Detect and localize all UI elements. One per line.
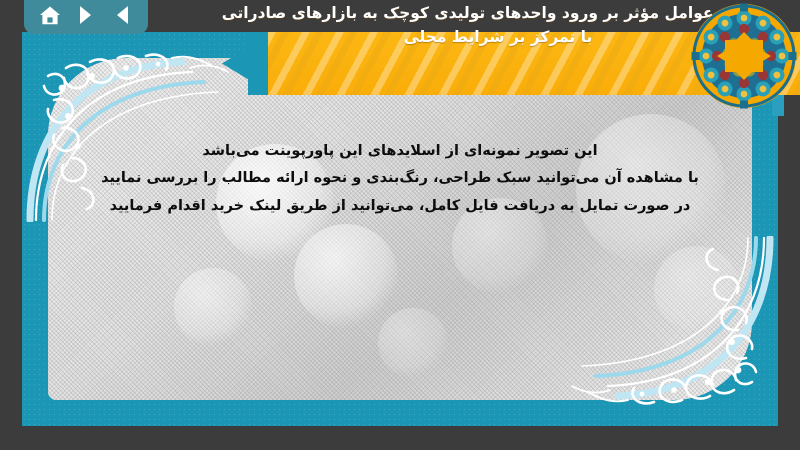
triangle-right-icon bbox=[77, 5, 95, 25]
slide-navigation-bar bbox=[24, 0, 148, 34]
home-icon bbox=[39, 5, 61, 26]
bokeh-light bbox=[576, 114, 726, 264]
slide-content-panel bbox=[48, 58, 752, 400]
bokeh-light bbox=[294, 224, 398, 328]
title-band-connector bbox=[248, 32, 270, 95]
bokeh-light bbox=[378, 308, 448, 378]
bokeh-light bbox=[174, 268, 252, 346]
triangle-left-icon bbox=[113, 5, 131, 25]
slide-viewer: بررسی عوامل مؤثر بر ورود واحدهای تولیدی … bbox=[0, 0, 800, 450]
bokeh-light bbox=[216, 144, 334, 262]
bokeh-light bbox=[654, 246, 740, 332]
next-slide-button[interactable] bbox=[71, 2, 101, 28]
title-band bbox=[268, 32, 800, 95]
bokeh-light bbox=[452, 198, 548, 294]
home-button[interactable] bbox=[35, 2, 65, 28]
previous-slide-button[interactable] bbox=[107, 2, 137, 28]
